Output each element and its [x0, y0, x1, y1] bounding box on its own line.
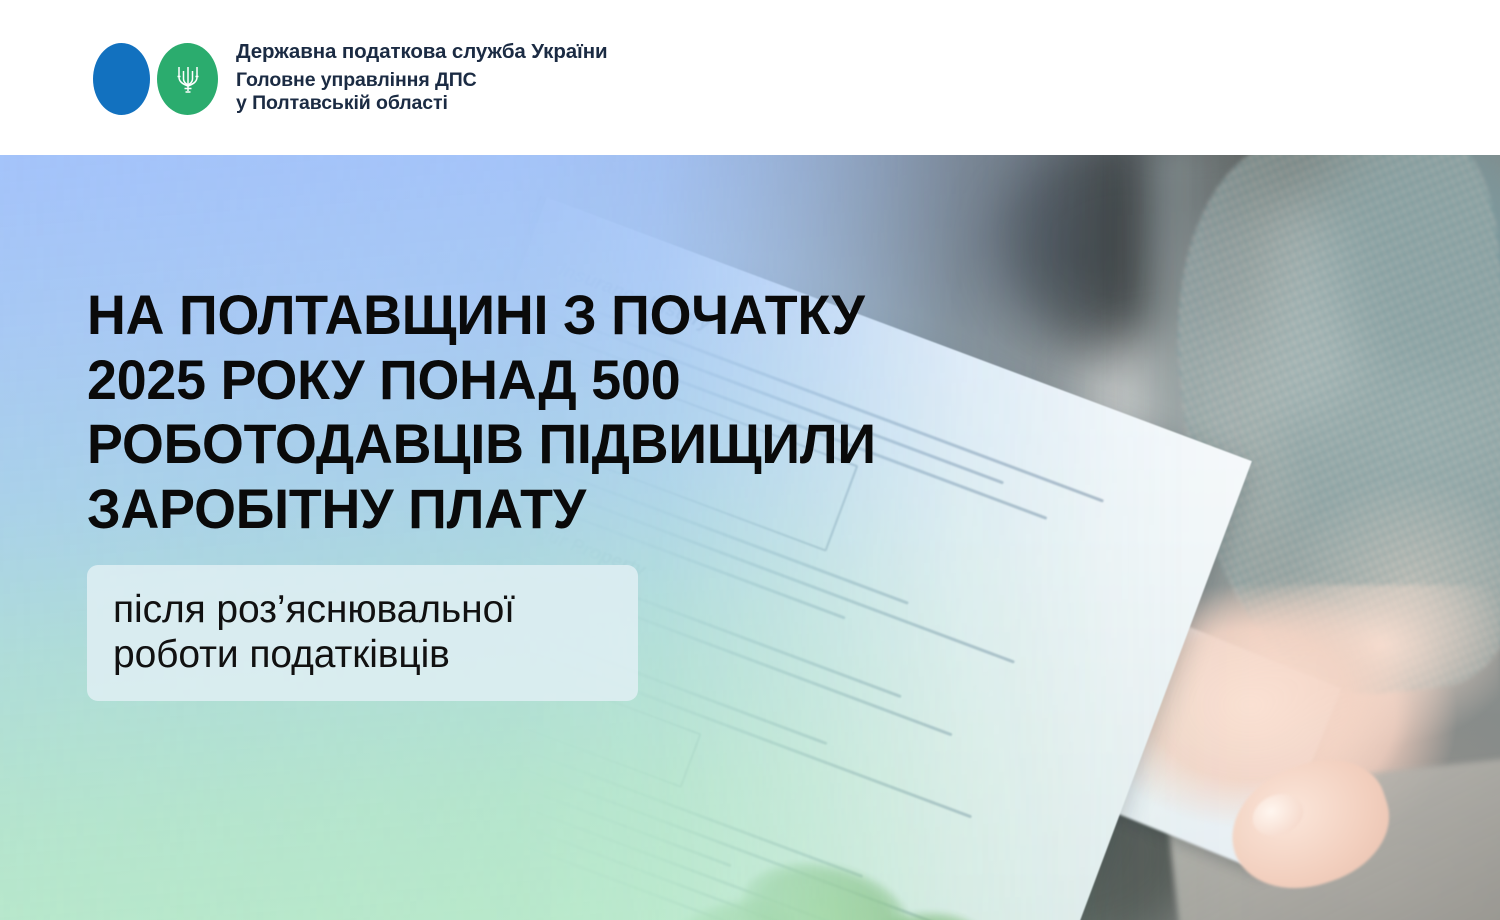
org-line-2: Головне управління ДПС [236, 71, 608, 91]
org-line-1: Державна податкова служба України [236, 42, 608, 63]
subtitle-box: після роз’яснювальної роботи податківців [87, 565, 638, 701]
hero-photo-stage: Insurance History About Your Property [0, 155, 1500, 920]
page-subtitle: після роз’яснювальної роботи податківців [113, 587, 612, 677]
blue-circle-icon [93, 43, 150, 115]
ukraine-trident-icon [175, 62, 201, 96]
org-line-3: у Полтавській області [236, 94, 608, 114]
page-headline: НА ПОЛТАВЩИНІ З ПОЧАТКУ 2025 РОКУ ПОНАД … [87, 283, 951, 542]
hero-content: НА ПОЛТАВЩИНІ З ПОЧАТКУ 2025 РОКУ ПОНАД … [0, 155, 1500, 920]
news-banner: Державна податкова служба України Головн… [0, 0, 1500, 920]
organization-logo: Державна податкова служба України Головн… [93, 40, 608, 116]
organization-name: Державна податкова служба України Головн… [236, 42, 608, 114]
banner-header: Державна податкова служба України Головн… [0, 0, 1500, 155]
logo-marks [93, 40, 219, 116]
green-circle-icon [157, 43, 218, 115]
